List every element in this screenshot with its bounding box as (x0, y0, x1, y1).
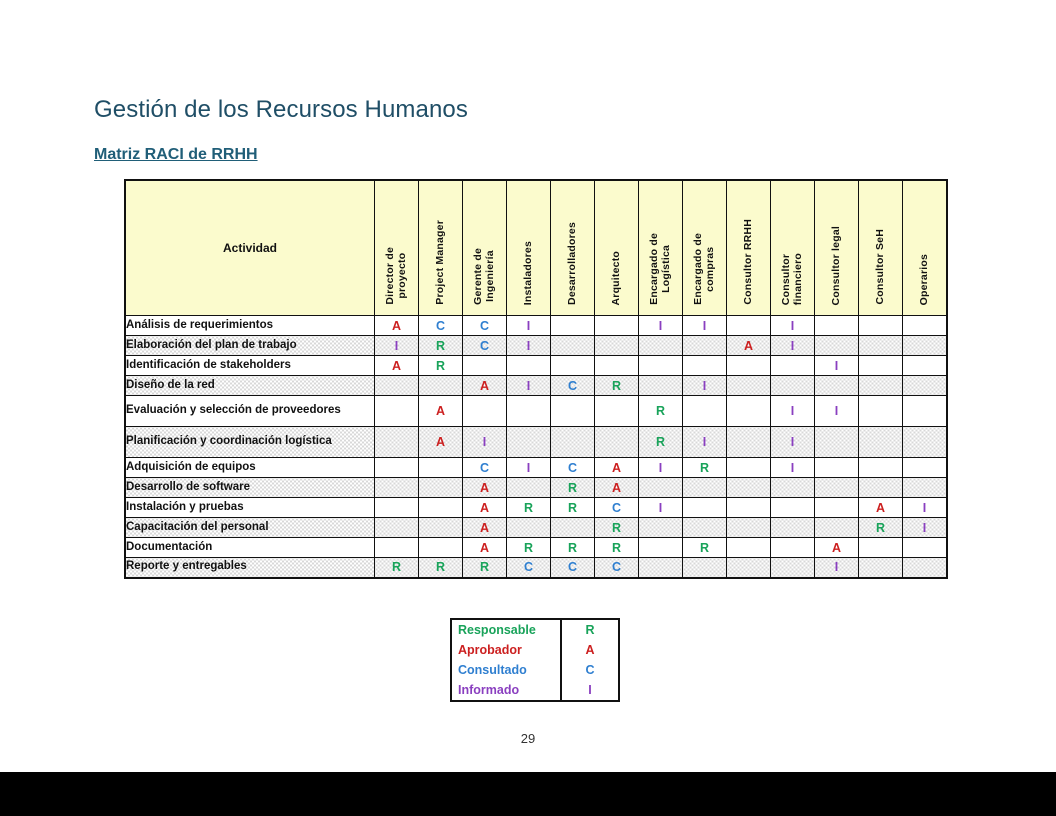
raci-cell-A: A (859, 498, 903, 518)
raci-cell-C: C (595, 558, 639, 578)
raci-cell-empty (551, 518, 595, 538)
raci-cell-empty (771, 356, 815, 376)
raci-cell-empty (595, 396, 639, 427)
raci-cell-R: R (419, 336, 463, 356)
activity-label: Desarrollo de software (125, 478, 375, 498)
raci-cell-empty (727, 558, 771, 578)
activity-label: Identificación de stakeholders (125, 356, 375, 376)
raci-cell-A: A (595, 478, 639, 498)
raci-cell-empty (375, 458, 419, 478)
activity-label: Elaboración del plan de trabajo (125, 336, 375, 356)
raci-cell-empty (815, 518, 859, 538)
activity-label: Diseño de la red (125, 376, 375, 396)
raci-cell-C: C (595, 498, 639, 518)
legend-body: ResponsableRAprobadorAConsultadoCInforma… (452, 620, 618, 700)
raci-cell-C: C (551, 376, 595, 396)
raci-cell-A: A (375, 356, 419, 376)
raci-cell-I: I (815, 396, 859, 427)
raci-cell-empty (815, 458, 859, 478)
raci-table: Actividad Director de proyectoProject Ma… (124, 179, 948, 579)
activity-label: Documentación (125, 538, 375, 558)
raci-cell-empty (507, 427, 551, 458)
column-header-role-label: Instaladores (523, 241, 535, 305)
raci-cell-empty (419, 458, 463, 478)
column-header-role-label: Desarrolladores (567, 222, 579, 305)
raci-cell-A: A (463, 376, 507, 396)
raci-cell-empty (727, 538, 771, 558)
raci-cell-empty (551, 336, 595, 356)
raci-cell-empty (639, 376, 683, 396)
raci-cell-R: R (551, 538, 595, 558)
raci-cell-empty (595, 316, 639, 336)
column-header-role-label: Operarios (919, 254, 931, 305)
slide-canvas: Gestión de los Recursos Humanos Matriz R… (0, 0, 1056, 772)
raci-cell-I: I (815, 356, 859, 376)
column-header-role: Consultor legal (815, 180, 859, 316)
raci-matrix: Actividad Director de proyectoProject Ma… (124, 179, 934, 579)
raci-cell-empty (903, 356, 948, 376)
raci-cell-empty (859, 538, 903, 558)
raci-cell-empty (507, 356, 551, 376)
raci-cell-R: R (375, 558, 419, 578)
raci-cell-empty (815, 376, 859, 396)
column-header-role-label: Director de proyecto (385, 247, 409, 305)
raci-cell-empty (507, 478, 551, 498)
column-header-role: Director de proyecto (375, 180, 419, 316)
raci-cell-R: R (595, 376, 639, 396)
raci-cell-I: I (507, 336, 551, 356)
raci-cell-empty (859, 336, 903, 356)
table-row: Capacitación del personalARRI (125, 518, 947, 538)
raci-cell-I: I (507, 376, 551, 396)
raci-cell-empty (727, 518, 771, 538)
page-title: Gestión de los Recursos Humanos (94, 96, 468, 124)
raci-cell-empty (727, 458, 771, 478)
raci-cell-empty (683, 356, 727, 376)
raci-cell-I: I (903, 518, 948, 538)
raci-cell-empty (463, 396, 507, 427)
raci-cell-I: I (771, 458, 815, 478)
table-row: Diseño de la redAICRI (125, 376, 947, 396)
raci-cell-empty (859, 458, 903, 478)
raci-cell-empty (859, 478, 903, 498)
activity-label: Análisis de requerimientos (125, 316, 375, 336)
raci-cell-I: I (683, 427, 727, 458)
legend-row: ResponsableR (452, 620, 618, 640)
raci-cell-empty (551, 316, 595, 336)
table-row: Reporte y entregablesRRRCCCI (125, 558, 947, 578)
raci-cell-empty (771, 478, 815, 498)
raci-cell-empty (463, 356, 507, 376)
column-header-role: Operarios (903, 180, 948, 316)
raci-cell-empty (903, 558, 948, 578)
raci-cell-A: A (463, 538, 507, 558)
table-row: Identificación de stakeholdersARI (125, 356, 947, 376)
raci-cell-empty (419, 376, 463, 396)
raci-cell-empty (859, 356, 903, 376)
raci-legend: ResponsableRAprobadorAConsultadoCInforma… (450, 618, 620, 702)
raci-cell-I: I (771, 316, 815, 336)
raci-cell-R: R (507, 498, 551, 518)
raci-cell-empty (815, 336, 859, 356)
raci-cell-empty (639, 538, 683, 558)
raci-cell-empty (727, 356, 771, 376)
raci-cell-empty (903, 478, 948, 498)
raci-cell-empty (859, 376, 903, 396)
column-header-role-label: Consultor RRHH (743, 219, 755, 305)
raci-cell-empty (639, 356, 683, 376)
table-header: Actividad Director de proyectoProject Ma… (125, 180, 947, 316)
raci-cell-empty (683, 498, 727, 518)
raci-cell-R: R (419, 356, 463, 376)
column-header-activity: Actividad (125, 180, 375, 316)
legend-row: AprobadorA (452, 640, 618, 660)
legend-name: Responsable (452, 620, 561, 640)
raci-cell-empty (419, 538, 463, 558)
legend-table: ResponsableRAprobadorAConsultadoCInforma… (452, 620, 618, 700)
raci-cell-I: I (375, 336, 419, 356)
legend-name: Consultado (452, 660, 561, 680)
raci-cell-empty (375, 427, 419, 458)
legend-code: R (561, 620, 618, 640)
column-header-role: Consultor RRHH (727, 180, 771, 316)
raci-cell-C: C (463, 316, 507, 336)
raci-cell-C: C (551, 458, 595, 478)
raci-cell-empty (771, 498, 815, 518)
raci-cell-R: R (595, 518, 639, 538)
raci-cell-empty (375, 518, 419, 538)
activity-label: Evaluación y selección de proveedores (125, 396, 375, 427)
raci-cell-empty (815, 427, 859, 458)
column-header-role-label: Consultor financiero (781, 253, 805, 305)
raci-cell-R: R (419, 558, 463, 578)
raci-cell-empty (551, 427, 595, 458)
column-header-role: Project Manager (419, 180, 463, 316)
raci-cell-I: I (815, 558, 859, 578)
raci-cell-C: C (463, 336, 507, 356)
raci-cell-empty (375, 538, 419, 558)
raci-cell-empty (771, 558, 815, 578)
raci-cell-empty (771, 376, 815, 396)
raci-cell-empty (595, 336, 639, 356)
column-header-role-label: Consultor SeH (875, 229, 887, 305)
raci-cell-empty (903, 316, 948, 336)
column-header-role: Consultor SeH (859, 180, 903, 316)
raci-cell-R: R (639, 427, 683, 458)
table-row: Análisis de requerimientosACCIIII (125, 316, 947, 336)
raci-cell-empty (727, 396, 771, 427)
raci-cell-A: A (463, 498, 507, 518)
column-header-role-label: Encargado de compras (693, 233, 717, 305)
legend-code: C (561, 660, 618, 680)
legend-row: ConsultadoC (452, 660, 618, 680)
raci-cell-empty (419, 478, 463, 498)
column-header-role-label: Consultor legal (831, 226, 843, 305)
legend-code: A (561, 640, 618, 660)
raci-cell-I: I (903, 498, 948, 518)
raci-cell-I: I (639, 498, 683, 518)
activity-label: Reporte y entregables (125, 558, 375, 578)
raci-cell-R: R (595, 538, 639, 558)
column-header-role: Encargado de Logística (639, 180, 683, 316)
raci-cell-C: C (419, 316, 463, 336)
raci-cell-empty (859, 427, 903, 458)
table-row: Planificación y coordinación logísticaAI… (125, 427, 947, 458)
raci-cell-R: R (551, 478, 595, 498)
legend-name: Informado (452, 680, 561, 700)
raci-cell-empty (771, 538, 815, 558)
raci-cell-empty (551, 396, 595, 427)
raci-cell-empty (859, 558, 903, 578)
legend-name: Aprobador (452, 640, 561, 660)
activity-label: Adquisición de equipos (125, 458, 375, 478)
raci-cell-empty (859, 316, 903, 336)
page-subtitle: Matriz RACI de RRHH (94, 146, 258, 164)
table-row: Instalación y pruebasARRCIAI (125, 498, 947, 518)
raci-cell-empty (639, 336, 683, 356)
table-row: Elaboración del plan de trabajoIRCIAI (125, 336, 947, 356)
column-header-role: Encargado de compras (683, 180, 727, 316)
activity-label: Planificación y coordinación logística (125, 427, 375, 458)
raci-cell-empty (903, 376, 948, 396)
raci-cell-A: A (375, 316, 419, 336)
column-header-role: Instaladores (507, 180, 551, 316)
activity-label: Capacitación del personal (125, 518, 375, 538)
raci-cell-empty (683, 336, 727, 356)
raci-cell-A: A (419, 396, 463, 427)
raci-cell-empty (507, 396, 551, 427)
activity-label: Instalación y pruebas (125, 498, 375, 518)
column-header-role: Desarrolladores (551, 180, 595, 316)
column-header-role: Consultor financiero (771, 180, 815, 316)
raci-cell-C: C (507, 558, 551, 578)
table-row: Desarrollo de softwareARA (125, 478, 947, 498)
raci-cell-empty (375, 376, 419, 396)
raci-cell-empty (639, 518, 683, 538)
raci-cell-empty (595, 427, 639, 458)
raci-cell-A: A (727, 336, 771, 356)
raci-cell-empty (419, 518, 463, 538)
raci-cell-empty (727, 498, 771, 518)
raci-cell-empty (815, 478, 859, 498)
raci-cell-I: I (683, 316, 727, 336)
raci-cell-empty (727, 376, 771, 396)
table-row: Evaluación y selección de proveedoresARI… (125, 396, 947, 427)
raci-cell-A: A (815, 538, 859, 558)
raci-cell-empty (375, 396, 419, 427)
raci-cell-empty (639, 478, 683, 498)
raci-cell-R: R (463, 558, 507, 578)
raci-cell-I: I (507, 316, 551, 336)
raci-cell-empty (683, 518, 727, 538)
raci-cell-R: R (859, 518, 903, 538)
raci-cell-empty (507, 518, 551, 538)
raci-cell-A: A (595, 458, 639, 478)
raci-cell-empty (727, 316, 771, 336)
raci-cell-I: I (507, 458, 551, 478)
raci-cell-empty (683, 558, 727, 578)
raci-cell-A: A (463, 478, 507, 498)
table-row: DocumentaciónARRRRA (125, 538, 947, 558)
header-row: Actividad Director de proyectoProject Ma… (125, 180, 947, 316)
column-header-role-label: Arquitecto (611, 251, 623, 306)
raci-cell-I: I (771, 336, 815, 356)
raci-cell-empty (419, 498, 463, 518)
column-header-role: Arquitecto (595, 180, 639, 316)
raci-cell-empty (815, 316, 859, 336)
raci-cell-I: I (771, 427, 815, 458)
raci-cell-I: I (639, 458, 683, 478)
column-header-role: Gerente de Ingeniería (463, 180, 507, 316)
raci-cell-empty (639, 558, 683, 578)
raci-cell-R: R (507, 538, 551, 558)
raci-cell-empty (903, 538, 948, 558)
raci-cell-empty (727, 478, 771, 498)
raci-cell-I: I (771, 396, 815, 427)
raci-cell-R: R (639, 396, 683, 427)
legend-code: I (561, 680, 618, 700)
table-row: Adquisición de equiposCICAIRI (125, 458, 947, 478)
raci-cell-empty (595, 356, 639, 376)
page-number: 29 (0, 731, 1056, 746)
raci-cell-empty (859, 396, 903, 427)
column-header-role-label: Project Manager (435, 220, 447, 305)
raci-cell-C: C (551, 558, 595, 578)
raci-cell-I: I (463, 427, 507, 458)
raci-cell-empty (903, 336, 948, 356)
raci-cell-empty (903, 427, 948, 458)
raci-cell-R: R (683, 458, 727, 478)
column-header-role-label: Gerente de Ingeniería (473, 248, 497, 305)
raci-cell-R: R (683, 538, 727, 558)
raci-cell-empty (815, 498, 859, 518)
raci-cell-empty (375, 478, 419, 498)
raci-cell-empty (727, 427, 771, 458)
raci-cell-empty (683, 478, 727, 498)
raci-cell-empty (683, 396, 727, 427)
raci-cell-A: A (463, 518, 507, 538)
raci-cell-A: A (419, 427, 463, 458)
raci-cell-empty (903, 396, 948, 427)
raci-cell-I: I (639, 316, 683, 336)
raci-cell-empty (903, 458, 948, 478)
raci-cell-empty (551, 356, 595, 376)
raci-cell-empty (375, 498, 419, 518)
column-header-role-label: Encargado de Logística (649, 233, 673, 305)
table-body: Análisis de requerimientosACCIIIIElabora… (125, 316, 947, 578)
raci-cell-I: I (683, 376, 727, 396)
raci-cell-R: R (551, 498, 595, 518)
raci-cell-C: C (463, 458, 507, 478)
legend-row: InformadoI (452, 680, 618, 700)
raci-cell-empty (771, 518, 815, 538)
